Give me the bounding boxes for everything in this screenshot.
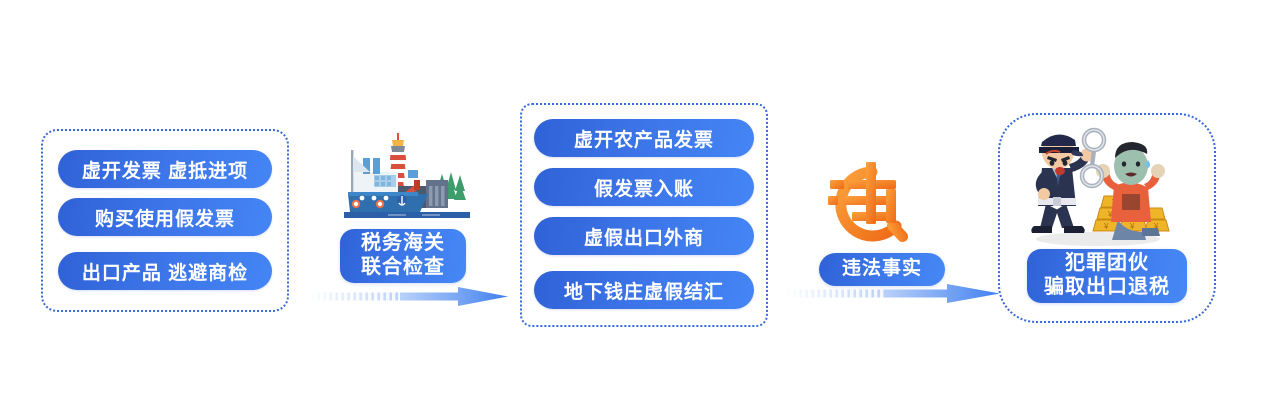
wei-magnifier-icon	[822, 156, 926, 250]
list-item[interactable]: 出口产品 逃避商检	[58, 252, 272, 290]
stage-port-caption: 税务海关 联合检查	[340, 229, 466, 283]
caption-line-2: 骗取出口退税	[1044, 276, 1170, 300]
list-item[interactable]: 虚开发票 虚抵进项	[58, 150, 272, 188]
stage-fact-caption: 违法事实	[819, 253, 945, 286]
list-item[interactable]: 虚开农产品发票	[534, 119, 754, 157]
stage-right-caption: 犯罪团伙 骗取出口退税	[1027, 249, 1187, 303]
svg-text:¥: ¥	[1103, 222, 1109, 231]
arrow-middle-to-right	[784, 283, 1000, 305]
list-item[interactable]: 假发票入账	[534, 168, 754, 206]
list-item[interactable]: 虚假出口外商	[534, 217, 754, 255]
police-arrest-criminal-icon: ¥¥ ¥¥ ¥¥	[1022, 124, 1174, 248]
list-item[interactable]: 地下钱庄虚假结汇	[534, 271, 754, 309]
caption-line-1: 税务海关	[361, 232, 445, 256]
port-ship-lighthouse-icon	[330, 128, 480, 230]
arrow-left-to-middle	[308, 286, 508, 308]
caption-line-1: 犯罪团伙	[1065, 252, 1149, 276]
list-item[interactable]: 购买使用假发票	[58, 198, 272, 236]
caption-text: 违法事实	[842, 258, 922, 280]
diagram-canvas: 虚开发票 虚抵进项 购买使用假发票 出口产品 逃避商检	[0, 0, 1261, 403]
caption-line-2: 联合检查	[361, 256, 445, 280]
